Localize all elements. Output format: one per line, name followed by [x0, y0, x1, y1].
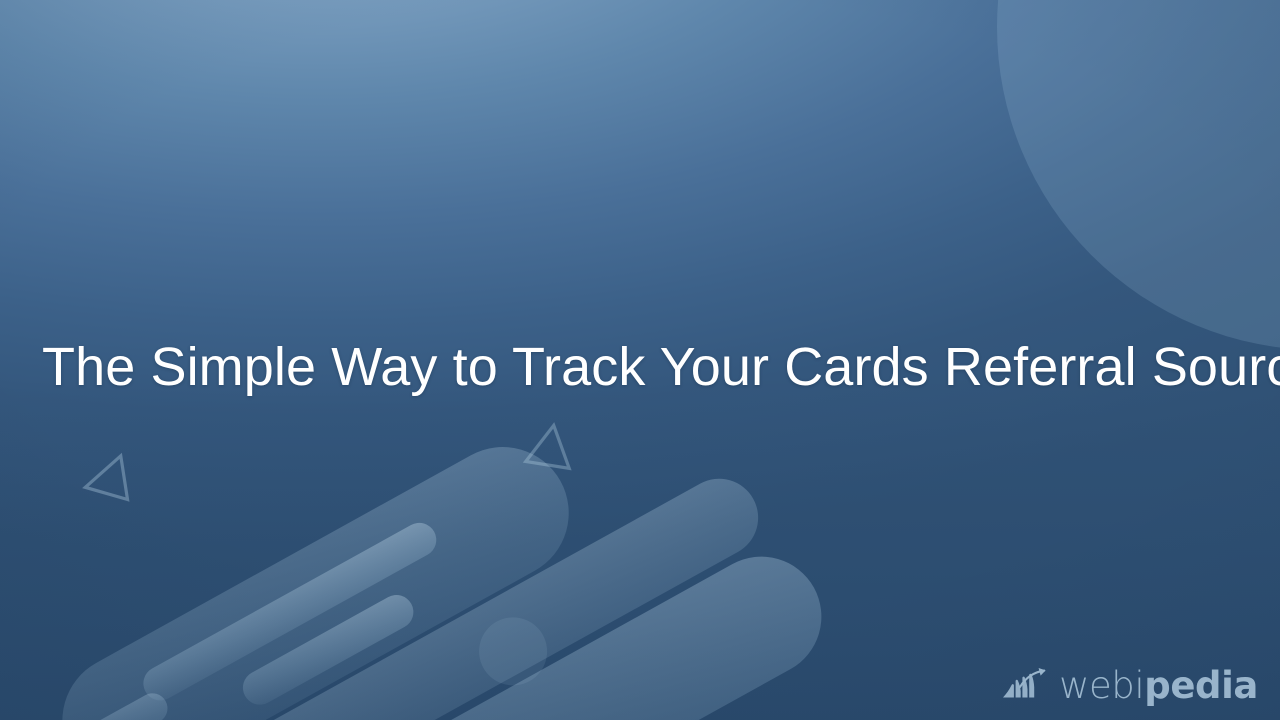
- logo-text-bold: pedia: [1144, 664, 1258, 707]
- webipedia-logo-text: webipedia: [1059, 667, 1258, 706]
- title-slide: The Simple Way to Track Your Cards Refer…: [0, 0, 1280, 720]
- webipedia-wave-arrow-mark-icon: [1001, 666, 1053, 706]
- webipedia-logo[interactable]: webipedia: [1001, 666, 1258, 706]
- logo-text-light: webi: [1059, 664, 1144, 707]
- page-title: The Simple Way to Track Your Cards Refer…: [42, 336, 1257, 400]
